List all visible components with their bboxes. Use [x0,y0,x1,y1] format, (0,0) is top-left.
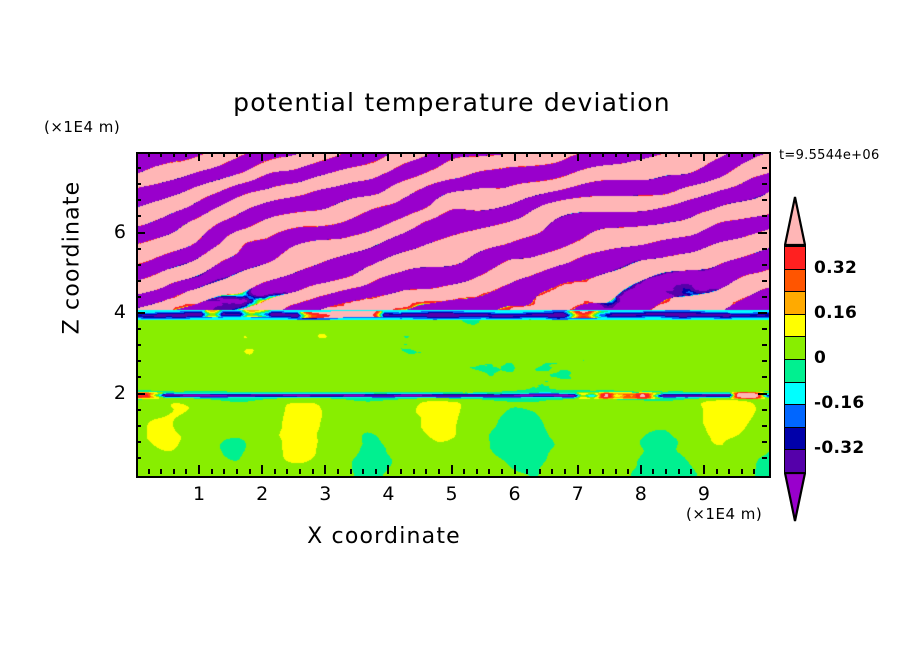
x-tick-top [312,152,314,157]
x-tick-top [324,152,326,161]
x-tick-top [438,152,440,157]
x-tick-top [703,152,705,161]
z-tick-left [136,296,141,298]
colorbar-label-4: -0.32 [814,438,865,458]
x-tick-top [602,152,604,157]
colorbar-band [784,359,806,383]
x-tick-bottom [425,469,427,474]
colorbar-band [784,404,806,428]
colorbar-band [784,336,806,360]
x-tick-bottom [413,469,415,474]
contour-plot-area [136,152,771,478]
x-tick-bottom [501,469,503,474]
x-tick-bottom [160,469,162,474]
x-tick-bottom [350,469,352,474]
x-tick-label-1: 1 [179,483,219,505]
x-tick-top [665,152,667,157]
x-tick-top [627,152,629,157]
z-tick-left [136,425,141,427]
x-tick-top [488,152,490,157]
x-tick-bottom [551,469,553,474]
z-tick-right [762,199,767,201]
x-tick-bottom [324,465,326,474]
colorbar-label-2: 0 [814,348,826,368]
x-tick-top [299,152,301,157]
x-axis-unit-label: (×1E4 m) [686,505,762,523]
x-tick-bottom [438,469,440,474]
z-tick-left [136,312,145,314]
x-tick-top [425,152,427,157]
x-tick-bottom [400,469,402,474]
z-tick-right [758,232,767,234]
colorbar-band [784,427,806,451]
x-tick-top [350,152,352,157]
x-tick-label-2: 2 [242,483,282,505]
x-tick-top [274,152,276,157]
x-tick-bottom [249,469,251,474]
colorbar-band [784,382,806,406]
z-tick-right [762,457,767,459]
x-tick-bottom [602,469,604,474]
contour-field [138,154,769,476]
x-tick-bottom [564,469,566,474]
x-tick-bottom [173,469,175,474]
x-tick-top [173,152,175,157]
z-tick-right [762,409,767,411]
y-axis-label: Z coordinate [60,158,85,358]
x-tick-bottom [299,469,301,474]
colorbar-label-0: 0.32 [814,258,857,278]
z-tick-right [762,376,767,378]
x-tick-top [236,152,238,157]
x-tick-bottom [678,469,680,474]
x-tick-top [362,152,364,157]
x-tick-bottom [716,469,718,474]
x-tick-top [223,152,225,157]
x-tick-bottom [274,469,276,474]
x-tick-top [577,152,579,161]
x-tick-top [526,152,528,157]
x-tick-top [160,152,162,157]
x-tick-bottom [526,469,528,474]
z-tick-left [136,232,145,234]
x-tick-top [753,152,755,157]
x-tick-bottom [514,465,516,474]
x-tick-bottom [211,469,213,474]
x-tick-top [286,152,288,157]
x-tick-label-3: 3 [305,483,345,505]
x-tick-label-7: 7 [558,483,598,505]
colorbar-over-arrow [784,196,806,246]
z-tick-left [136,215,141,217]
x-tick-bottom [741,469,743,474]
x-tick-bottom [476,469,478,474]
z-tick-right [762,248,767,250]
z-tick-left [136,344,141,346]
x-tick-top [375,152,377,157]
x-tick-top [463,152,465,157]
z-tick-right [762,328,767,330]
x-tick-bottom [261,465,263,474]
z-tick-right [762,264,767,266]
x-tick-top [211,152,213,157]
z-tick-left [136,441,141,443]
colorbar-band [784,246,806,270]
z-tick-right [762,441,767,443]
colorbar-band [784,449,806,473]
x-tick-bottom [223,469,225,474]
x-tick-bottom [387,465,389,474]
z-tick-right [762,183,767,185]
x-tick-bottom [337,469,339,474]
x-tick-bottom [703,465,705,474]
z-tick-left [136,360,141,362]
x-tick-top [539,152,541,157]
z-tick-left [136,328,141,330]
x-tick-top [198,152,200,161]
x-tick-top [249,152,251,157]
x-tick-top [652,152,654,157]
x-tick-bottom [665,469,667,474]
x-tick-label-8: 8 [621,483,661,505]
page-title: potential temperature deviation [0,88,904,117]
z-tick-left [136,393,145,395]
x-tick-top [551,152,553,157]
x-tick-top [476,152,478,157]
z-axis-unit-label: (×1E4 m) [44,118,120,136]
x-tick-top [564,152,566,157]
colorbar-band [784,269,806,293]
x-tick-bottom [451,465,453,474]
z-tick-label-6: 6 [86,221,126,243]
x-tick-bottom [690,469,692,474]
x-tick-bottom [539,469,541,474]
x-tick-bottom [185,469,187,474]
x-tick-label-6: 6 [495,483,535,505]
x-axis-label: X coordinate [0,524,768,549]
z-tick-left [136,183,141,185]
z-tick-right [762,215,767,217]
z-tick-label-2: 2 [86,382,126,404]
x-tick-bottom [627,469,629,474]
x-tick-top [185,152,187,157]
x-tick-top [741,152,743,157]
x-tick-top [640,152,642,161]
colorbar-under-arrow [784,472,806,522]
x-tick-bottom [198,465,200,474]
x-tick-bottom [148,469,150,474]
z-tick-left [136,199,141,201]
z-tick-right [758,312,767,314]
z-tick-left [136,280,141,282]
x-tick-top [615,152,617,157]
colorbar-band [784,291,806,315]
x-tick-bottom [652,469,654,474]
z-tick-right [762,344,767,346]
x-tick-bottom [615,469,617,474]
x-tick-top [400,152,402,157]
x-tick-bottom [375,469,377,474]
z-tick-left [136,167,141,169]
z-tick-left [136,457,141,459]
z-tick-right [762,167,767,169]
colorbar-label-3: -0.16 [814,393,865,413]
figure-canvas: potential temperature deviation (×1E4 m)… [0,0,904,654]
colorbar-band [784,314,806,338]
x-tick-bottom [488,469,490,474]
x-tick-label-9: 9 [684,483,724,505]
colorbar [784,246,806,472]
x-tick-bottom [236,469,238,474]
x-tick-top [451,152,453,161]
x-tick-bottom [312,469,314,474]
z-tick-label-4: 4 [86,301,126,323]
x-tick-top [728,152,730,157]
timestamp-annotation: t=9.5544e+06 [779,148,880,163]
x-tick-top [678,152,680,157]
x-tick-top [589,152,591,157]
z-tick-left [136,376,141,378]
z-tick-right [762,296,767,298]
z-tick-right [762,425,767,427]
x-tick-top [690,152,692,157]
x-tick-top [716,152,718,157]
x-tick-bottom [463,469,465,474]
x-tick-bottom [577,465,579,474]
x-tick-bottom [728,469,730,474]
z-tick-left [136,248,141,250]
z-tick-right [762,360,767,362]
z-tick-left [136,409,141,411]
x-tick-top [413,152,415,157]
x-tick-top [337,152,339,157]
x-tick-top [261,152,263,161]
colorbar-label-1: 0.16 [814,303,857,323]
z-tick-right [758,393,767,395]
x-tick-label-5: 5 [432,483,472,505]
x-tick-bottom [640,465,642,474]
x-tick-bottom [362,469,364,474]
x-tick-bottom [286,469,288,474]
z-tick-left [136,264,141,266]
x-tick-bottom [753,469,755,474]
x-tick-top [148,152,150,157]
x-tick-bottom [589,469,591,474]
x-tick-top [387,152,389,161]
x-tick-top [514,152,516,161]
z-tick-right [762,280,767,282]
x-tick-label-4: 4 [368,483,408,505]
x-tick-top [501,152,503,157]
